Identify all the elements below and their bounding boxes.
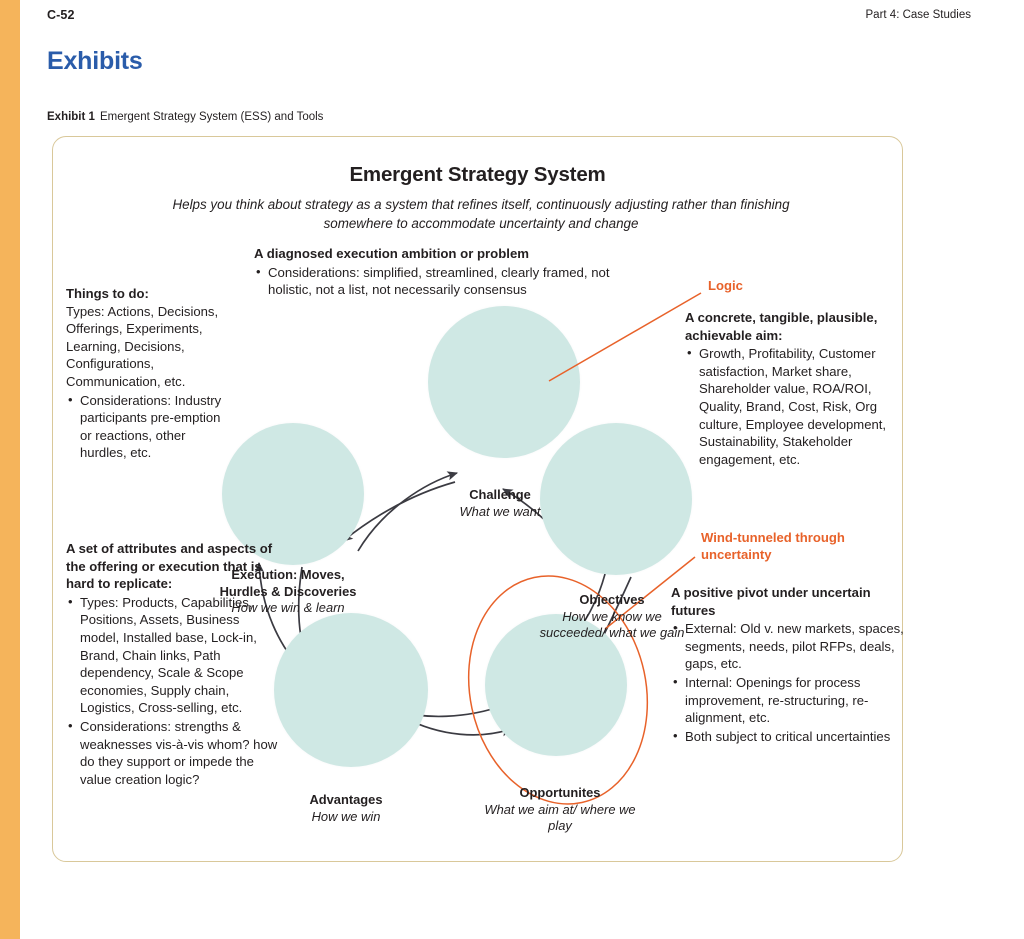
- node-label-challenge: Challenge What we want: [425, 487, 575, 520]
- side-block-heading: Things to do:: [66, 285, 233, 303]
- node-label-advantages: Advantages How we win: [271, 792, 421, 825]
- list-item: Considerations: Industry participants pr…: [66, 392, 233, 462]
- side-block-heading: A set of attributes and aspects of the o…: [66, 540, 281, 593]
- page-title: Exhibits: [47, 47, 143, 76]
- side-block-body: Types: Actions, Decisions, Offerings, Ex…: [66, 303, 233, 391]
- node-circles: [222, 306, 692, 767]
- list-item: Growth, Profitability, Customer satisfac…: [685, 345, 907, 468]
- side-block-left-top: Things to do: Types: Actions, Decisions,…: [66, 285, 233, 462]
- exhibit-card: Emergent Strategy System Helps you think…: [52, 136, 903, 862]
- page-spine-accent: [0, 0, 20, 939]
- node-subtitle-challenge: What we want: [425, 504, 575, 521]
- side-block-left-bottom: A set of attributes and aspects of the o…: [66, 540, 281, 789]
- side-block-bullets: Considerations: Industry participants pr…: [66, 392, 233, 462]
- node-title-opportunites: Opportunites: [484, 785, 636, 802]
- callout-wind-tunneled: Wind-tunneled through uncertainty: [701, 529, 861, 563]
- page-root: C-52 Part 4: Case Studies Exhibits Exhib…: [0, 0, 1024, 939]
- list-item: Types: Products, Capabilities, Positions…: [66, 594, 281, 717]
- node-label-opportunites: Opportunites What we aim at/ where we pl…: [484, 785, 636, 835]
- exhibit-caption: Exhibit 1Emergent Strategy System (ESS) …: [47, 111, 323, 123]
- side-block-right-top: A concrete, tangible, plausible, achieva…: [685, 309, 907, 468]
- list-item: Considerations: strengths & weaknesses v…: [66, 718, 281, 788]
- side-block-bullets: External: Old v. new markets, spaces, se…: [671, 620, 904, 745]
- list-item: External: Old v. new markets, spaces, se…: [671, 620, 904, 673]
- callout-logic: Logic: [708, 277, 743, 294]
- list-item: Both subject to critical uncertainties: [671, 728, 904, 746]
- side-block-heading: A positive pivot under uncertain futures: [671, 584, 904, 619]
- side-block-bullets: Growth, Profitability, Customer satisfac…: [685, 345, 907, 468]
- node-title-challenge: Challenge: [425, 487, 575, 504]
- node-subtitle-opportunites: What we aim at/ where we play: [484, 802, 636, 835]
- running-head: Part 4: Case Studies: [866, 9, 971, 21]
- node-label-objectives: Objectives How we know we succeeded/ wha…: [537, 592, 687, 642]
- node-title-objectives: Objectives: [537, 592, 687, 609]
- side-block-bullets: Types: Products, Capabilities, Positions…: [66, 594, 281, 789]
- exhibit-label: Exhibit 1: [47, 111, 95, 123]
- node-circle-advantages[interactable]: [274, 613, 428, 767]
- node-subtitle-advantages: How we win: [271, 809, 421, 826]
- exhibit-caption-text: Emergent Strategy System (ESS) and Tools: [100, 111, 324, 123]
- leader-line-logic: [549, 293, 701, 381]
- node-title-advantages: Advantages: [271, 792, 421, 809]
- node-circle-challenge[interactable]: [428, 306, 580, 458]
- list-item: Internal: Openings for process improveme…: [671, 674, 904, 727]
- folio-number: C-52: [47, 8, 75, 22]
- node-subtitle-objectives: How we know we succeeded/ what we gain: [537, 609, 687, 642]
- side-block-heading: A concrete, tangible, plausible, achieva…: [685, 309, 907, 344]
- side-block-right-bottom: A positive pivot under uncertain futures…: [671, 584, 904, 745]
